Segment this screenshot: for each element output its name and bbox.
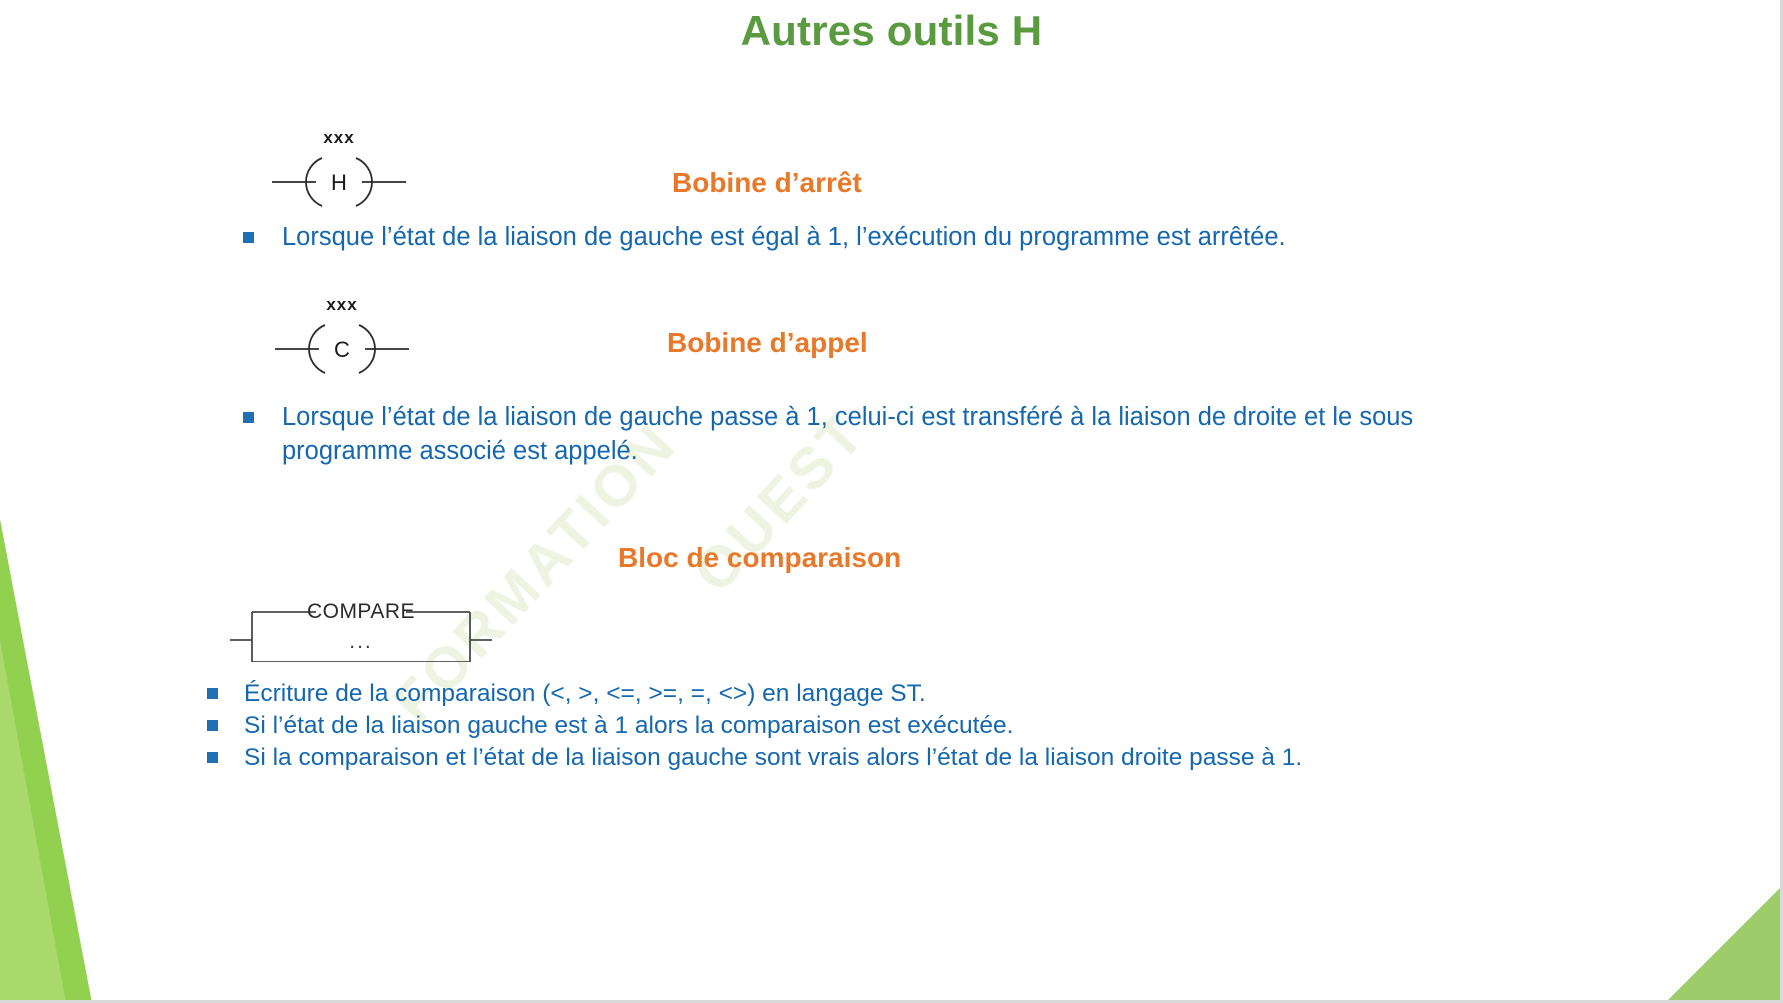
stop-coil-glyph: H: [272, 150, 406, 210]
bullet-item-call-coil: Lorsque l’état de la liaison de gauche p…: [243, 400, 1423, 468]
presentation-slide: FORMATION OUEST Autres outils H xxx H Bo…: [0, 0, 1783, 1003]
ladder-symbol-stop-coil: xxx H: [272, 128, 406, 208]
section-heading-stop-coil: Bobine d’arrêt: [672, 167, 862, 199]
section-heading-call-coil: Bobine d’appel: [667, 327, 868, 359]
bullet-item-compare-1: Écriture de la comparaison (<, >, <=, >=…: [207, 677, 1507, 711]
ladder-symbol-call-coil: xxx C: [275, 295, 409, 375]
bullet-text: Si l’état de la liaison gauche est à 1 a…: [244, 709, 1013, 743]
ladder-symbol-compare-block: COMPARE ...: [230, 600, 492, 662]
bullet-square-icon: [243, 232, 254, 243]
bullet-square-icon: [207, 720, 218, 731]
svg-text:H: H: [331, 170, 347, 195]
compare-block-label: COMPARE: [230, 600, 492, 624]
bullet-item-compare-3: Si la comparaison et l’état de la liaiso…: [207, 741, 1507, 775]
bullet-item-stop-coil: Lorsque l’état de la liaison de gauche e…: [243, 220, 1443, 254]
bullet-square-icon: [207, 752, 218, 763]
bullet-text: Écriture de la comparaison (<, >, <=, >=…: [244, 677, 926, 711]
bullet-item-compare-2: Si l’état de la liaison gauche est à 1 a…: [207, 709, 1507, 743]
bullet-text: Lorsque l’état de la liaison de gauche e…: [282, 220, 1286, 254]
decorative-triangle-bottom-right: [1665, 885, 1783, 1003]
svg-text:C: C: [334, 337, 350, 362]
bullet-text: Si la comparaison et l’état de la liaiso…: [244, 741, 1302, 775]
bullet-text: Lorsque l’état de la liaison de gauche p…: [282, 400, 1423, 468]
page-title: Autres outils H: [0, 7, 1783, 55]
call-coil-glyph: C: [275, 317, 409, 377]
section-heading-compare-block: Bloc de comparaison: [618, 542, 901, 574]
coil-label-2: xxx: [275, 295, 409, 315]
bullet-square-icon: [207, 688, 218, 699]
coil-label-1: xxx: [272, 128, 406, 148]
compare-block-content: ...: [230, 630, 492, 654]
bullet-square-icon: [243, 412, 254, 423]
